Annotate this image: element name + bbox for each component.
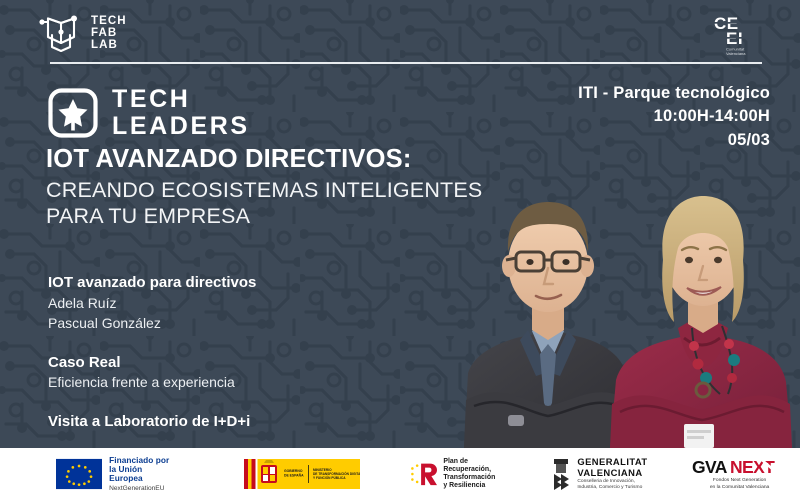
gva-next-wordmark: GVA NEXT <box>692 457 788 476</box>
header-divider <box>50 62 762 64</box>
gva-next-subtitle: Fondos Next Generation en la Comunitat V… <box>692 478 788 491</box>
gva-line-3: Conselleria de Innovación, <box>577 479 647 484</box>
eu-funding-logo: Financiado por la Unión Europea NextGene… <box>56 448 170 500</box>
eu-line-2: la Unión Europea <box>109 465 170 484</box>
event-time: 10:00H-14:00H <box>578 105 770 128</box>
svg-text:Valenciana: Valenciana <box>726 51 746 56</box>
gvanext-sub-2: en la Comunitat Valenciana <box>692 485 788 491</box>
gva-line-4: Industria, Comercio y Turismo <box>577 485 647 490</box>
gvanext-part-a: GVA <box>692 457 728 476</box>
agenda-heading: Caso Real <box>48 352 256 374</box>
ceei-logo: CE EI Comunitat Valenciana <box>710 12 772 56</box>
agenda-detail: Eficiencia frente a experiencia <box>48 373 256 393</box>
star-badge-icon <box>48 88 98 138</box>
tech-fab-lab-logo: TECH FAB LAB <box>38 13 127 53</box>
subtitle-line-1: CREANDO ECOSISTEMAS INTELIGENTES <box>46 177 482 203</box>
gob-line-2: DE ESPAÑA <box>284 473 304 478</box>
agenda-heading: Visita a Laboratorio de I+D+i <box>48 411 256 433</box>
fablab-line-1: TECH <box>91 15 127 27</box>
prtr-line-2: Transformación <box>443 474 502 482</box>
title-block: IOT AVANZADO DIRECTIVOS: CREANDO ECOSIST… <box>46 145 482 229</box>
ceei-mark: CE EI Comunitat Valenciana <box>710 12 772 56</box>
page-title: IOT AVANZADO DIRECTIVOS: <box>46 145 482 175</box>
eu-line-3: NextGenerationEU <box>109 485 170 492</box>
leaders-line-2: LEADERS <box>112 113 250 140</box>
event-venue: ITI - Parque tecnológico <box>578 82 770 105</box>
fablab-line-2: FAB <box>91 27 127 39</box>
prtr-text: Plan de Recuperación, Transformación y R… <box>443 458 502 491</box>
gva-line-2: VALENCIANA <box>577 468 647 478</box>
event-date: 05/03 <box>578 129 770 152</box>
generalitat-valenciana-logo: GENERALITAT VALENCIANA Conselleria de In… <box>550 448 647 500</box>
prtr-logo: Plan de Recuperación, Transformación y R… <box>410 448 502 500</box>
spain-government-mark: GOBIERNO DE ESPAÑA MINISTERIO DE TRANSFO… <box>244 459 360 489</box>
prtr-line-1: Plan de Recuperación, <box>443 458 502 474</box>
tech-leaders-logo: TECH LEADERS <box>48 86 250 140</box>
hero-panel: TECH FAB LAB CE EI Comunitat Valenciana … <box>0 0 800 448</box>
fablab-line-3: LAB <box>91 39 127 51</box>
gob-line-1: GOBIERNO <box>284 469 303 473</box>
event-details: ITI - Parque tecnológico 10:00H-14:00H 0… <box>578 82 770 152</box>
agenda-speaker: Pascual González <box>48 314 256 334</box>
speaker-man <box>464 202 630 448</box>
leaders-line-1: TECH <box>112 86 250 113</box>
agenda-heading: IOT avanzado para directivos <box>48 272 256 294</box>
gva-next-logo: GVA NEXT Fondos Next Generation en la Co… <box>692 448 788 500</box>
prtr-mark-icon <box>410 458 437 490</box>
gob-line-5: Y FUNCIÓN PÚBLICA <box>313 475 346 480</box>
eu-flag-icon <box>56 457 102 491</box>
subtitle-line-2: PARA TU EMPRESA <box>46 203 482 229</box>
gva-text: GENERALITAT VALENCIANA Conselleria de In… <box>577 457 647 490</box>
speakers-photo <box>444 168 800 448</box>
tech-fab-lab-wordmark: TECH FAB LAB <box>91 15 127 51</box>
agenda-item: IOT avanzado para directivos Adela Ruíz … <box>48 272 256 334</box>
agenda-speaker: Adela Ruíz <box>48 294 256 314</box>
agenda-item: Visita a Laboratorio de I+D+i <box>48 411 256 433</box>
tech-leaders-wordmark: TECH LEADERS <box>112 86 250 140</box>
eu-funding-text: Financiado por la Unión Europea NextGene… <box>109 456 170 493</box>
speaker-woman <box>610 196 792 448</box>
cube-circuit-icon <box>38 13 84 53</box>
agenda-item: Caso Real Eficiencia frente a experienci… <box>48 352 256 394</box>
footer-logos: Financiado por la Unión Europea NextGene… <box>0 448 800 500</box>
agenda-list: IOT avanzado para directivos Adela Ruíz … <box>48 272 256 433</box>
page-subtitle: CREANDO ECOSISTEMAS INTELIGENTES PARA TU… <box>46 177 482 229</box>
prtr-line-3: y Resiliencia <box>443 482 502 490</box>
poster-root: TECH FAB LAB CE EI Comunitat Valenciana … <box>0 0 800 500</box>
gva-crest-icon <box>550 457 572 491</box>
gobierno-espana-logo: GOBIERNO DE ESPAÑA MINISTERIO DE TRANSFO… <box>244 448 360 500</box>
